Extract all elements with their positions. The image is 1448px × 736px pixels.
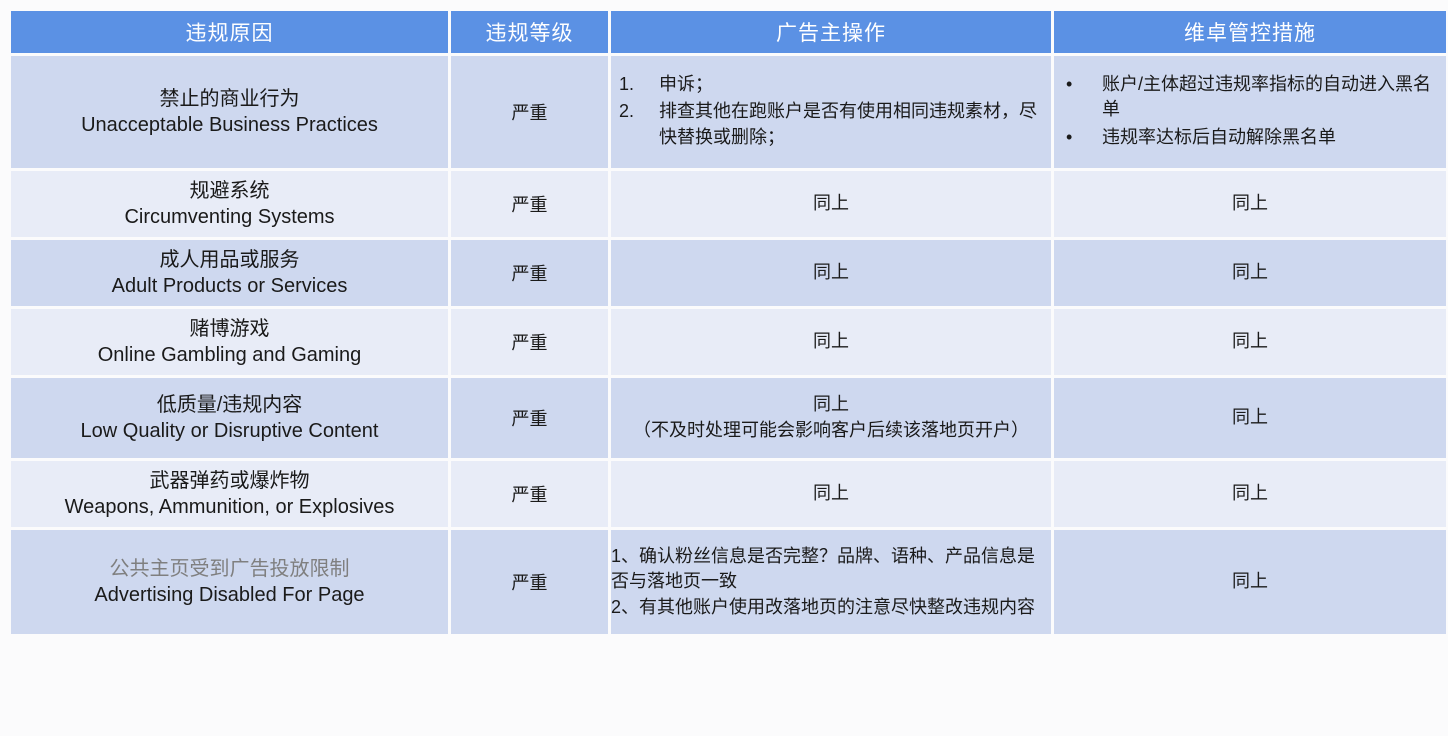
control-bullet-list: • 账户/主体超过违规率指标的自动进入黑名单 • 违规率达标后自动解除黑名单 bbox=[1054, 72, 1446, 151]
reason-en: Online Gambling and Gaming bbox=[11, 342, 448, 368]
action-lines: 1、确认粉丝信息是否完整？品牌、语种、产品信息是否与落地页一致 2、有其他账户使… bbox=[611, 544, 1051, 621]
column-header-advertiser-action: 广告主操作 bbox=[611, 11, 1051, 53]
list-item: 1. 申诉； bbox=[615, 72, 1051, 98]
action-line: 2、有其他账户使用改落地页的注意尽快整改违规内容 bbox=[611, 595, 1051, 621]
cell-advertiser-action: 同上 （不及时处理可能会影响客户后续该落地页开户） bbox=[611, 378, 1051, 458]
cell-violation-level: 严重 bbox=[451, 240, 608, 306]
cell-violation-reason: 成人用品或服务 Adult Products or Services bbox=[11, 240, 448, 306]
list-text: 账户/主体超过违规率指标的自动进入黑名单 bbox=[1102, 74, 1431, 120]
table-header: 违规原因 违规等级 广告主操作 维卓管控措施 bbox=[11, 11, 1446, 53]
table-row: 规避系统 Circumventing Systems 严重 同上 同上 bbox=[11, 171, 1446, 237]
table-row: 成人用品或服务 Adult Products or Services 严重 同上… bbox=[11, 240, 1446, 306]
action-line: 1、确认粉丝信息是否完整？品牌、语种、产品信息是否与落地页一致 bbox=[611, 544, 1051, 595]
list-item: • 账户/主体超过违规率指标的自动进入黑名单 bbox=[1058, 72, 1446, 123]
action-line: （不及时处理可能会影响客户后续该落地页开户） bbox=[611, 418, 1051, 444]
reason-en: Advertising Disabled For Page bbox=[11, 582, 448, 608]
table-row: 低质量/违规内容 Low Quality or Disruptive Conte… bbox=[11, 378, 1446, 458]
table-body: 禁止的商业行为 Unacceptable Business Practices … bbox=[11, 56, 1446, 634]
column-header-control-measure: 维卓管控措施 bbox=[1054, 11, 1446, 53]
action-lines: 同上 （不及时处理可能会影响客户后续该落地页开户） bbox=[611, 392, 1051, 443]
cell-control-measure: 同上 bbox=[1054, 240, 1446, 306]
cell-violation-level: 严重 bbox=[451, 461, 608, 527]
cell-violation-level: 严重 bbox=[451, 56, 608, 168]
reason-en: Low Quality or Disruptive Content bbox=[11, 418, 448, 444]
cell-advertiser-action: 同上 bbox=[611, 240, 1051, 306]
reason-zh: 武器弹药或爆炸物 bbox=[11, 468, 448, 494]
list-marker: 1. bbox=[619, 72, 634, 98]
cell-control-measure: 同上 bbox=[1054, 309, 1446, 375]
table-row: 禁止的商业行为 Unacceptable Business Practices … bbox=[11, 56, 1446, 168]
column-header-violation-reason: 违规原因 bbox=[11, 11, 448, 53]
reason-en: Unacceptable Business Practices bbox=[11, 112, 448, 138]
cell-control-measure: 同上 bbox=[1054, 530, 1446, 634]
reason-zh: 禁止的商业行为 bbox=[11, 86, 448, 112]
list-text: 违规率达标后自动解除黑名单 bbox=[1102, 127, 1336, 147]
cell-violation-reason: 禁止的商业行为 Unacceptable Business Practices bbox=[11, 56, 448, 168]
reason-en: Adult Products or Services bbox=[11, 273, 448, 299]
cell-violation-reason: 规避系统 Circumventing Systems bbox=[11, 171, 448, 237]
cell-control-measure: 同上 bbox=[1054, 461, 1446, 527]
list-text: 排查其他在跑账户是否有使用相同违规素材，尽快替换或删除； bbox=[659, 101, 1037, 147]
cell-control-measure: • 账户/主体超过违规率指标的自动进入黑名单 • 违规率达标后自动解除黑名单 bbox=[1054, 56, 1446, 168]
reason-zh: 公共主页受到广告投放限制 bbox=[11, 556, 448, 582]
action-line: 同上 bbox=[611, 392, 1051, 418]
list-text: 申诉； bbox=[659, 74, 713, 94]
table-row: 公共主页受到广告投放限制 Advertising Disabled For Pa… bbox=[11, 530, 1446, 634]
cell-control-measure: 同上 bbox=[1054, 378, 1446, 458]
action-ordered-list: 1. 申诉； 2. 排查其他在跑账户是否有使用相同违规素材，尽快替换或删除； bbox=[611, 72, 1051, 151]
table-row: 武器弹药或爆炸物 Weapons, Ammunition, or Explosi… bbox=[11, 461, 1446, 527]
cell-violation-reason: 低质量/违规内容 Low Quality or Disruptive Conte… bbox=[11, 378, 448, 458]
column-header-violation-level: 违规等级 bbox=[451, 11, 608, 53]
cell-advertiser-action: 同上 bbox=[611, 309, 1051, 375]
cell-advertiser-action: 同上 bbox=[611, 171, 1051, 237]
cell-violation-reason: 公共主页受到广告投放限制 Advertising Disabled For Pa… bbox=[11, 530, 448, 634]
cell-violation-level: 严重 bbox=[451, 309, 608, 375]
table-row: 赌博游戏 Online Gambling and Gaming 严重 同上 同上 bbox=[11, 309, 1446, 375]
cell-control-measure: 同上 bbox=[1054, 171, 1446, 237]
cell-advertiser-action: 1. 申诉； 2. 排查其他在跑账户是否有使用相同违规素材，尽快替换或删除； bbox=[611, 56, 1051, 168]
bullet-icon: • bbox=[1066, 125, 1072, 151]
reason-zh: 赌博游戏 bbox=[11, 316, 448, 342]
list-item: 2. 排查其他在跑账户是否有使用相同违规素材，尽快替换或删除； bbox=[615, 99, 1051, 150]
cell-advertiser-action: 同上 bbox=[611, 461, 1051, 527]
reason-zh: 低质量/违规内容 bbox=[11, 392, 448, 418]
list-item: • 违规率达标后自动解除黑名单 bbox=[1058, 125, 1446, 151]
cell-violation-level: 严重 bbox=[451, 171, 608, 237]
table-header-row: 违规原因 违规等级 广告主操作 维卓管控措施 bbox=[11, 11, 1446, 53]
cell-violation-level: 严重 bbox=[451, 378, 608, 458]
list-marker: 2. bbox=[619, 99, 634, 125]
reason-zh: 规避系统 bbox=[11, 178, 448, 204]
reason-en: Weapons, Ammunition, or Explosives bbox=[11, 494, 448, 520]
bullet-icon: • bbox=[1066, 72, 1072, 98]
cell-advertiser-action: 1、确认粉丝信息是否完整？品牌、语种、产品信息是否与落地页一致 2、有其他账户使… bbox=[611, 530, 1051, 634]
slide-canvas: 违规原因 违规等级 广告主操作 维卓管控措施 禁止的商业行为 Unaccepta… bbox=[0, 0, 1448, 736]
reason-en: Circumventing Systems bbox=[11, 204, 448, 230]
violation-policy-table: 违规原因 违规等级 广告主操作 维卓管控措施 禁止的商业行为 Unaccepta… bbox=[8, 8, 1448, 637]
reason-zh: 成人用品或服务 bbox=[11, 247, 448, 273]
cell-violation-reason: 赌博游戏 Online Gambling and Gaming bbox=[11, 309, 448, 375]
cell-violation-reason: 武器弹药或爆炸物 Weapons, Ammunition, or Explosi… bbox=[11, 461, 448, 527]
cell-violation-level: 严重 bbox=[451, 530, 608, 634]
